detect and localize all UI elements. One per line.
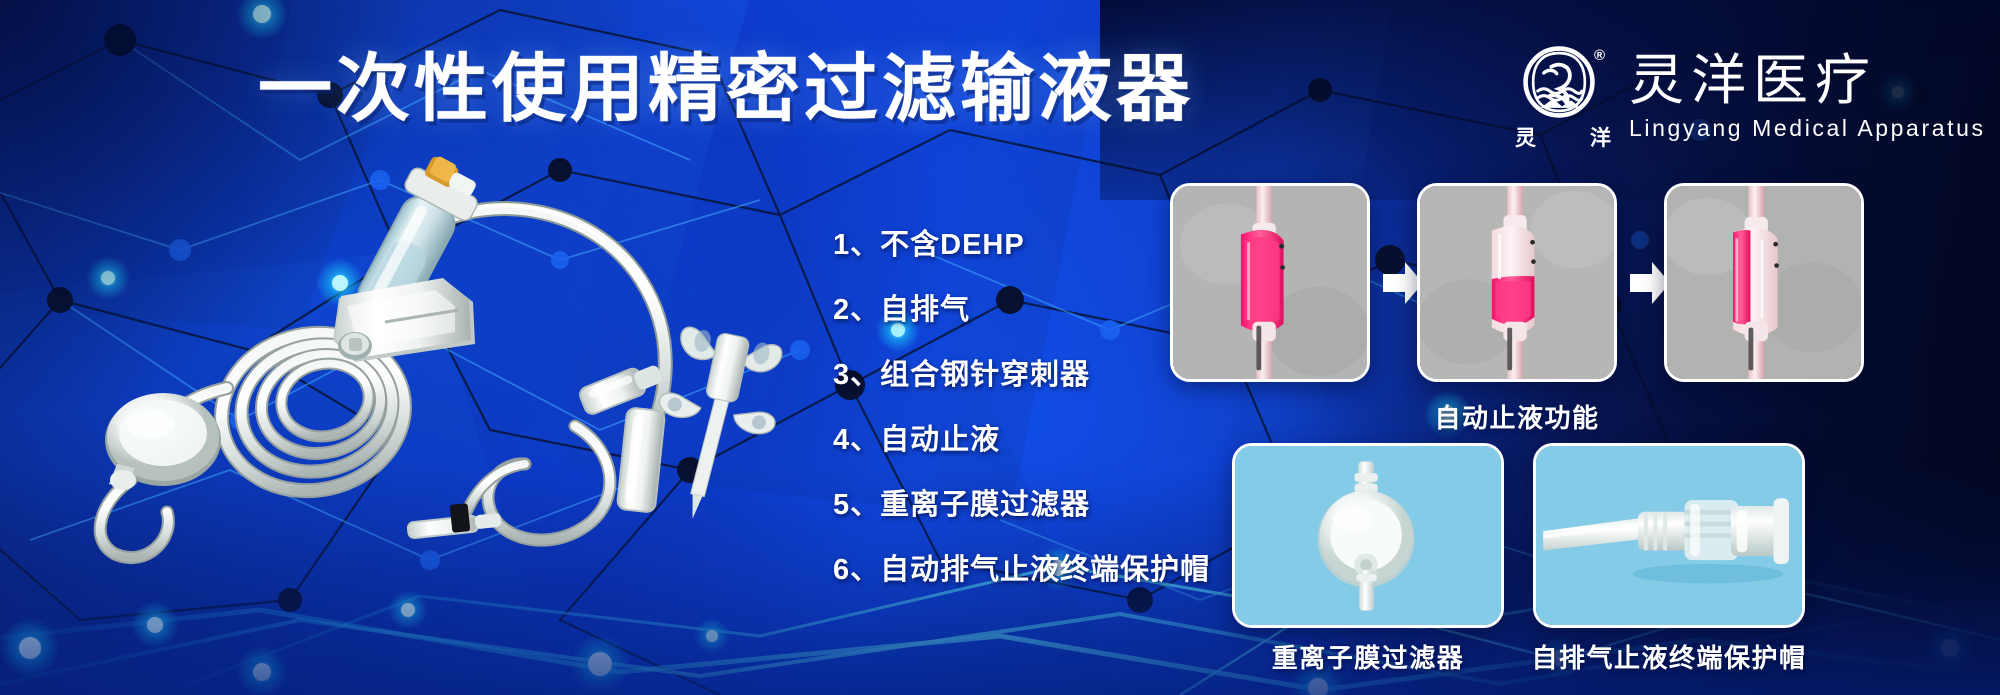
auto-stop-valve-photo-2 xyxy=(1420,186,1614,379)
registered-trademark-icon: ® xyxy=(1594,48,1605,63)
caption-auto-stop-sequence: 自动止液功能 xyxy=(1170,398,1864,435)
caption-self-venting-end-cap: 自排气止液终端保护帽 xyxy=(1512,638,1826,675)
membrane-filter-photo xyxy=(1235,446,1501,625)
feature-list: 1、不含DEHP 2、自排气 3、组合钢针穿刺器 4、自动止液 5、重离子膜过滤… xyxy=(833,228,1210,587)
caption-heavy-ion-membrane-filter: 重离子膜过滤器 xyxy=(1232,638,1504,675)
auto-stop-valve-photo-3 xyxy=(1667,186,1861,379)
photo-heavy-ion-membrane-filter xyxy=(1232,443,1504,628)
auto-stop-valve-photo-1 xyxy=(1173,186,1367,379)
photo-auto-stop-step-2 xyxy=(1417,183,1617,382)
company-name-en: Lingyang Medical Apparatus xyxy=(1629,114,1986,142)
photo-auto-stop-step-1 xyxy=(1170,183,1370,382)
air-filter-disc xyxy=(105,393,221,490)
product-banner: 一次性使用精密过滤输液器 ® 灵 洋 灵洋医疗 Li xyxy=(0,0,2000,695)
feature-item-5: 5、重离子膜过滤器 xyxy=(833,488,1210,522)
feature-item-3: 3、组合钢针穿刺器 xyxy=(833,358,1210,392)
protective-cap xyxy=(616,406,667,514)
feature-item-6: 6、自动排气止液终端保护帽 xyxy=(833,553,1210,587)
logo-wordmark: 灵洋医疗 Lingyang Medical Apparatus xyxy=(1629,50,1986,142)
photo-self-venting-end-cap xyxy=(1533,443,1805,628)
infusion-set-illustration xyxy=(55,150,845,570)
company-logo: ® 灵 洋 灵洋医疗 Lingyang Medical Apparatus xyxy=(1515,44,1986,148)
logo-emblem-caption: 灵 洋 xyxy=(1515,122,1611,152)
photo-auto-stop-step-3 xyxy=(1664,183,1864,382)
feature-item-4: 4、自动止液 xyxy=(833,423,1210,457)
logo-char-ling: 灵 xyxy=(1515,122,1536,152)
hero-product-image xyxy=(55,150,845,570)
end-cap-photo xyxy=(1536,446,1802,625)
lingyang-circular-emblem-icon xyxy=(1521,44,1597,120)
feature-item-2: 2、自排气 xyxy=(833,293,1210,327)
logo-char-yang: 洋 xyxy=(1590,122,1611,152)
feature-item-1: 1、不含DEHP xyxy=(833,228,1210,262)
company-name-cn: 灵洋医疗 xyxy=(1629,50,1986,110)
page-title: 一次性使用精密过滤输液器 xyxy=(258,46,1194,132)
logo-emblem-group: ® 灵 洋 xyxy=(1515,44,1611,148)
roller-clamp xyxy=(333,278,475,362)
